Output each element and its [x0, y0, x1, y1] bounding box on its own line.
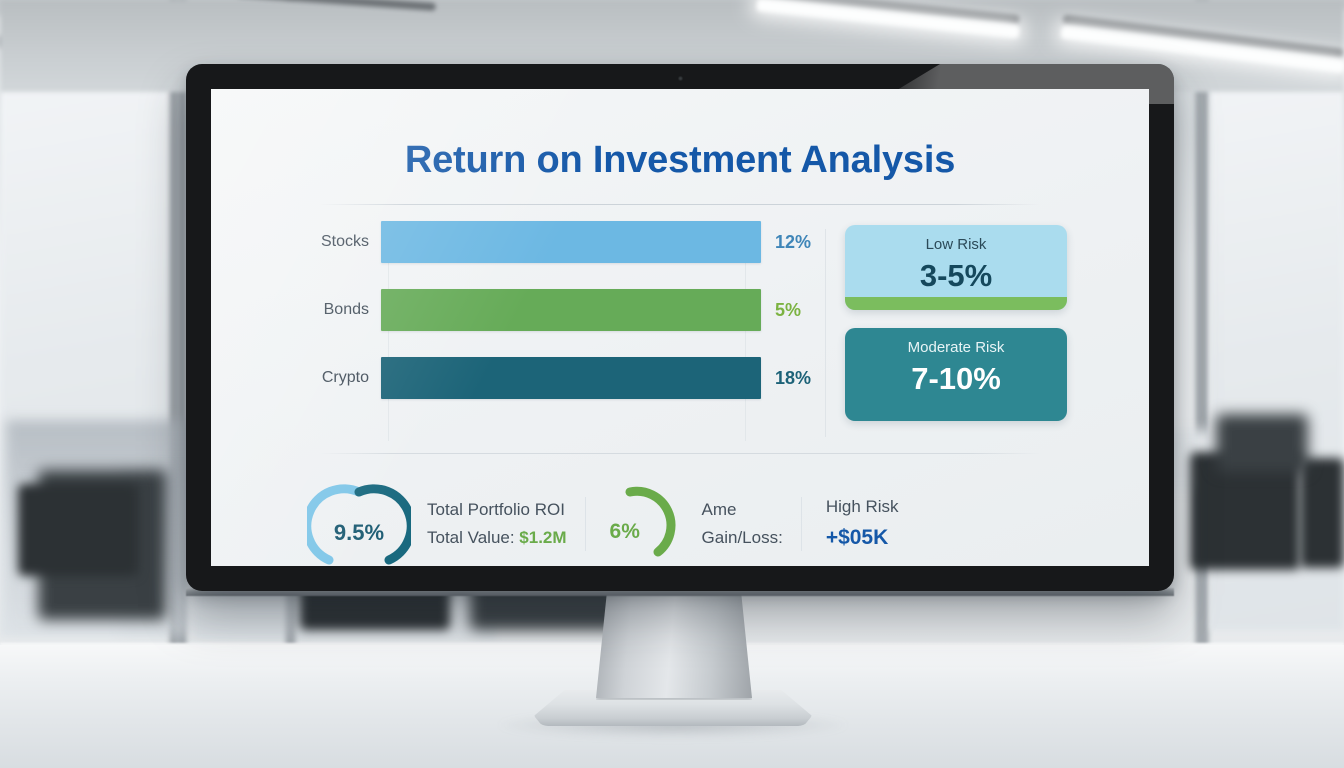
risk-card-low-strip — [845, 297, 1067, 310]
bar-crypto[interactable] — [381, 357, 761, 399]
chair-left — [18, 484, 138, 576]
gain-gauge[interactable]: 6% — [604, 476, 696, 566]
bar-row[interactable]: Stocks 12% — [293, 221, 811, 263]
bar-value-stocks: 12% — [775, 232, 811, 253]
summary-stats-row: 9.5% Total Portfolio ROI Total Value: $1… — [293, 476, 1067, 566]
stats-divider-1 — [585, 497, 586, 551]
title-divider — [319, 204, 1041, 205]
high-risk-amount: +$05K — [826, 521, 899, 555]
risk-card-low[interactable]: Low Risk 3-5% — [845, 225, 1067, 310]
risk-card-moderate[interactable]: Moderate Risk 7-10% — [845, 328, 1067, 421]
gain-loss-title: Ame — [702, 496, 783, 524]
total-portfolio-roi-label: Total Portfolio ROI — [427, 496, 567, 524]
monitor-screen: Return on Investment Analysis Stocks 12%… — [211, 89, 1149, 566]
bar-chart: Stocks 12% Bonds 5% Crypto 18% — [293, 221, 811, 445]
risk-card-moderate-label: Moderate Risk — [855, 339, 1057, 358]
risk-card-low-label: Low Risk — [855, 236, 1057, 255]
risk-card-moderate-value: 7-10% — [855, 359, 1057, 399]
roi-gauge-value: 9.5% — [307, 520, 411, 546]
total-value-amount: $1.2M — [519, 528, 566, 547]
chair-back-right — [1216, 414, 1308, 472]
bar-label-crypto: Crypto — [293, 369, 381, 387]
webcam-icon — [678, 76, 683, 81]
roi-dashboard: Return on Investment Analysis Stocks 12%… — [211, 89, 1149, 566]
monitor-frame: Return on Investment Analysis Stocks 12%… — [186, 64, 1174, 591]
total-value-line: Total Value: $1.2M — [427, 524, 567, 552]
gain-gauge-value: 6% — [604, 520, 696, 544]
gain-loss-block: Ame Gain/Loss: — [696, 496, 783, 551]
roi-gauge[interactable]: 9.5% — [307, 476, 411, 566]
bar-bonds[interactable] — [381, 289, 761, 331]
total-portfolio-block: Total Portfolio ROI Total Value: $1.2M — [411, 496, 567, 551]
gain-loss-label: Gain/Loss: — [702, 524, 783, 552]
high-risk-block: High Risk +$05K — [820, 493, 899, 555]
monitor-stand-neck — [596, 592, 752, 698]
high-risk-label: High Risk — [826, 493, 899, 521]
bar-row[interactable]: Crypto 18% — [293, 357, 811, 399]
risk-cards-panel: Low Risk 3-5% Moderate Risk 7-10% — [811, 221, 1067, 445]
page-title: Return on Investment Analysis — [293, 111, 1067, 182]
bar-label-stocks: Stocks — [293, 233, 381, 251]
risk-card-low-value: 3-5% — [855, 256, 1057, 296]
bar-value-crypto: 18% — [775, 368, 811, 389]
stats-divider-2 — [801, 497, 802, 551]
total-value-label: Total Value: — [427, 528, 519, 547]
bar-stocks[interactable] — [381, 221, 761, 263]
bar-value-bonds: 5% — [775, 300, 801, 321]
bottom-divider — [319, 453, 1041, 454]
section-vertical-divider — [825, 229, 826, 437]
bar-label-bonds: Bonds — [293, 301, 381, 319]
chair-far-right — [1300, 458, 1344, 568]
bar-row[interactable]: Bonds 5% — [293, 289, 811, 331]
dashboard-middle-section: Stocks 12% Bonds 5% Crypto 18% — [293, 221, 1067, 445]
